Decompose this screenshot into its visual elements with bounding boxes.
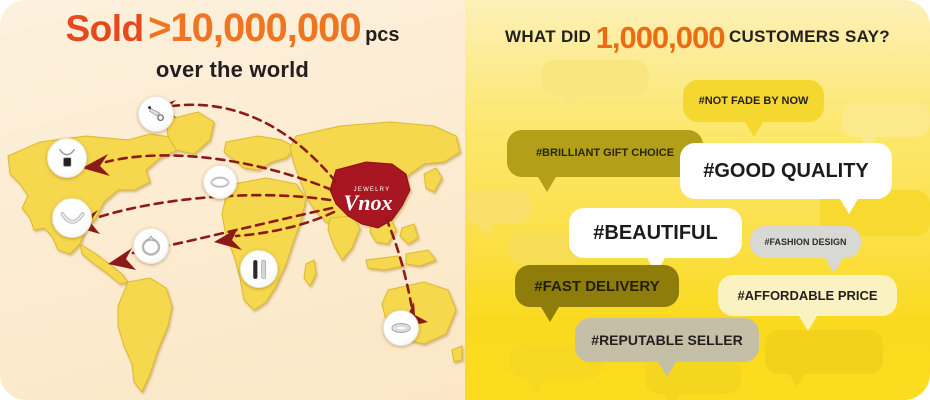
bubble-not-fade-by-now-label: #NOT FADE BY NOW bbox=[699, 96, 809, 107]
bubble-beautiful[interactable]: #BEAUTIFUL bbox=[569, 208, 742, 258]
ring-icon bbox=[139, 234, 163, 258]
promo-banner: Sold >10,000,000 pcs over the world bbox=[0, 0, 930, 400]
india bbox=[328, 216, 360, 260]
bubble-good-quality-label: #GOOD QUALITY bbox=[703, 161, 869, 181]
indonesia-1 bbox=[366, 256, 404, 270]
bubble-not-fade-by-now[interactable]: #NOT FADE BY NOW bbox=[683, 80, 824, 122]
bubble-good-quality[interactable]: #GOOD QUALITY bbox=[680, 143, 892, 199]
bubble-reputable-seller-label: #REPUTABLE SELLER bbox=[591, 333, 742, 347]
bubble-fast-delivery-label: #FAST DELIVERY bbox=[534, 279, 659, 294]
bubble-fashion-design[interactable]: #FASHION DESIGN bbox=[750, 226, 861, 258]
badge-ring bbox=[133, 228, 169, 264]
bubble-fashion-design-label: #FASHION DESIGN bbox=[764, 238, 846, 247]
deco-bubble-1 bbox=[541, 60, 649, 96]
sold-headline-block: Sold >10,000,000 pcs over the world bbox=[0, 8, 465, 83]
sold-amount: >10,000,000 bbox=[148, 6, 361, 50]
pendant-icon bbox=[54, 145, 80, 171]
brand-wordmark: Vnox bbox=[344, 190, 393, 215]
feedback-count: 1,000,000 bbox=[596, 20, 725, 55]
sold-worldwide-panel: Sold >10,000,000 pcs over the world bbox=[0, 0, 465, 400]
vnox-brand-logo: JEWELRY Vnox bbox=[344, 187, 393, 215]
badge-cuff bbox=[240, 250, 278, 288]
philippines bbox=[400, 224, 418, 244]
deco-bubble-7 bbox=[765, 330, 883, 374]
customer-feedback-panel: WHAT DID 1,000,000 CUSTOMERS SAY? #NOT F… bbox=[465, 0, 930, 400]
bubble-beautiful-label: #BEAUTIFUL bbox=[593, 223, 717, 243]
earrings-icon bbox=[145, 103, 167, 125]
badge-necklace bbox=[52, 198, 92, 238]
cuff-icon bbox=[247, 257, 272, 282]
sold-unit: pcs bbox=[365, 24, 399, 46]
deco-bubble-3 bbox=[465, 190, 531, 224]
deco-bubble-2 bbox=[842, 103, 930, 137]
feedback-suffix: CUSTOMERS SAY? bbox=[729, 27, 890, 46]
bubble-reputable-seller[interactable]: #REPUTABLE SELLER bbox=[575, 318, 759, 362]
feedback-prefix: WHAT DID bbox=[505, 27, 591, 46]
band-icon bbox=[389, 316, 413, 340]
badge-band bbox=[383, 310, 419, 346]
bubble-fast-delivery[interactable]: #FAST DELIVERY bbox=[515, 265, 679, 307]
badge-earrings bbox=[138, 96, 174, 132]
bubble-affordable-price-label: #AFFORDABLE PRICE bbox=[737, 289, 877, 302]
world-map: JEWELRY Vnox bbox=[0, 78, 465, 400]
south-america bbox=[118, 278, 172, 392]
europe bbox=[224, 136, 296, 170]
bangle-icon bbox=[209, 171, 231, 193]
sold-word: Sold bbox=[65, 8, 143, 49]
bubble-brilliant-gift-choice-label: #BRILLIANT GIFT CHOICE bbox=[536, 148, 674, 159]
japan bbox=[424, 168, 442, 192]
bubble-brilliant-gift-choice[interactable]: #BRILLIANT GIFT CHOICE bbox=[507, 130, 703, 177]
feedback-headline: WHAT DID 1,000,000 CUSTOMERS SAY? bbox=[465, 20, 930, 56]
sold-headline: Sold >10,000,000 pcs bbox=[0, 8, 465, 48]
world-map-svg: JEWELRY Vnox bbox=[0, 78, 465, 400]
badge-bangle bbox=[203, 165, 237, 199]
bubble-affordable-price[interactable]: #AFFORDABLE PRICE bbox=[718, 275, 897, 316]
indonesia-2 bbox=[406, 250, 436, 266]
badge-pendant bbox=[47, 138, 87, 178]
madagascar bbox=[304, 260, 316, 286]
necklace-icon bbox=[59, 205, 86, 232]
new-zealand bbox=[452, 346, 462, 362]
